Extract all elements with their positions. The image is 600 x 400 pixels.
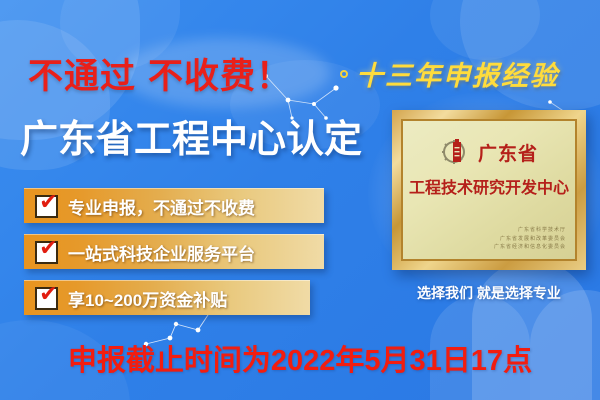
- headline-part-1: 不通过: [28, 57, 136, 96]
- plaque-title-line-1: 广东省: [478, 139, 538, 166]
- experience-slogan: 十三年申报经验: [340, 54, 559, 93]
- deadline-text: 申报截止时间为2022年5月31日17点: [0, 337, 600, 379]
- checkmark-icon: ✔: [35, 241, 58, 264]
- certificate-plaque: 广东省 工程技术研究开发中心 广东省科学技术厅 广东省发展和改革委员会 广东省经…: [392, 110, 586, 270]
- experience-slogan-text: 十三年申报经验: [356, 54, 559, 93]
- feature-item[interactable]: ✔ 一站式科技企业服务平台: [24, 234, 324, 269]
- feature-label: 一站式科技企业服务平台: [68, 240, 255, 265]
- feature-item[interactable]: ✔ 享10~200万资金补贴: [24, 280, 310, 315]
- headline: 不通过不收费！: [28, 48, 292, 99]
- promo-banner: 不通过不收费！ 广东省工程中心认定 十三年申报经验 ✔ 专业申报，不通过不收费 …: [0, 0, 600, 400]
- checkmark-icon: ✔: [35, 287, 58, 310]
- plaque-tagline: 选择我们 就是选择专业: [392, 283, 586, 303]
- feature-label: 专业申报，不通过不收费: [68, 194, 255, 219]
- plaque-title-line-2: 工程技术研究开发中心: [409, 174, 569, 198]
- plaque-title-row: 广东省: [440, 137, 538, 167]
- feature-list: ✔ 专业申报，不通过不收费 ✔ 一站式科技企业服务平台 ✔ 享10~200万资金…: [24, 188, 324, 315]
- feature-item[interactable]: ✔ 专业申报，不通过不收费: [24, 188, 324, 223]
- plaque-inner-panel: 广东省 工程技术研究开发中心 广东省科学技术厅 广东省发展和改革委员会 广东省经…: [401, 119, 577, 261]
- checkmark-icon: ✔: [35, 195, 58, 218]
- plaque-issuer: 广东省经济和信息化委员会: [494, 244, 566, 252]
- plaque-issuer-list: 广东省科学技术厅 广东省发展和改革委员会 广东省经济和信息化委员会: [494, 227, 566, 252]
- circle-bullet-icon: [340, 70, 348, 78]
- feature-label: 享10~200万资金补贴: [68, 286, 227, 311]
- headline-part-2: 不收费！: [148, 57, 292, 96]
- plaque-issuer: 广东省发展和改革委员会: [494, 236, 566, 244]
- gear-emblem-icon: [440, 137, 470, 167]
- plaque-issuer: 广东省科学技术厅: [494, 227, 566, 235]
- page-title: 广东省工程中心认定: [20, 108, 362, 163]
